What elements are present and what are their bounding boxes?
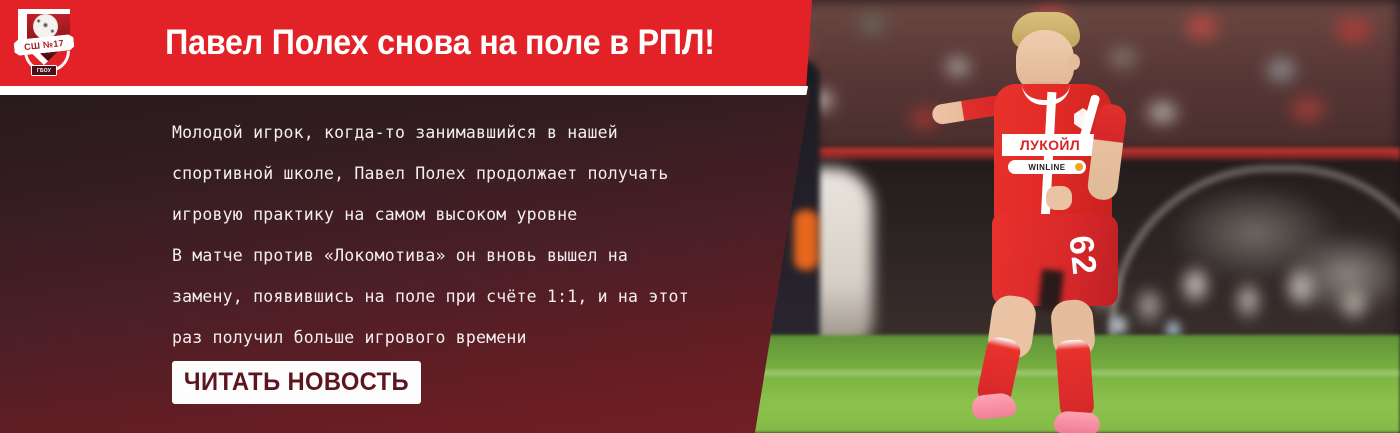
news-banner: ЛУКОЙЛ WINLINE 62 [0, 0, 1400, 433]
page-title: Павел Полех снова на поле в РПЛ! [136, 0, 743, 86]
shirt-number: 62 [1060, 234, 1103, 278]
jersey-sponsor: ЛУКОЙЛ [1002, 134, 1098, 156]
body-line: В матче против «Локомотива» он вновь выш… [172, 235, 792, 276]
divider-strip [0, 86, 808, 95]
player-right-sock [1055, 339, 1094, 419]
player-left-boot [971, 392, 1017, 420]
body-line: раз получил больше игрового времени [172, 317, 792, 358]
read-news-button-label: ЧИТАТЬ НОВОСТЬ [184, 368, 409, 397]
coach-sleeve [794, 210, 818, 270]
photo-inner: ЛУКОЙЛ WINLINE 62 [740, 0, 1400, 433]
body-line: Молодой игрок, когда-то занимавшийся в н… [172, 112, 792, 153]
jersey-sponsor-secondary: WINLINE [1008, 160, 1086, 174]
player-right-boot [1053, 410, 1100, 433]
crest-base-text: ГБОУ [32, 66, 56, 75]
soccer-ball-icon [33, 14, 58, 39]
body-line: игровую практику на самом высоком уровне [172, 194, 792, 235]
body-line: замену, появившись на поле при счёте 1:1… [172, 276, 792, 317]
player-ear [1068, 54, 1080, 70]
school-logo: СШ №17 ГБОУ [13, 7, 75, 79]
crest-base: ГБОУ [31, 65, 57, 76]
player-photo: ЛУКОЙЛ WINLINE 62 [740, 0, 1400, 433]
body-text: Молодой игрок, когда-то занимавшийся в н… [172, 112, 792, 358]
body-line: спортивной школе, Павел Полех продолжает… [172, 153, 792, 194]
player-figure: ЛУКОЙЛ WINLINE 62 [936, 8, 1186, 433]
read-news-button[interactable]: ЧИТАТЬ НОВОСТЬ [172, 361, 421, 404]
player-fist [1046, 186, 1072, 210]
